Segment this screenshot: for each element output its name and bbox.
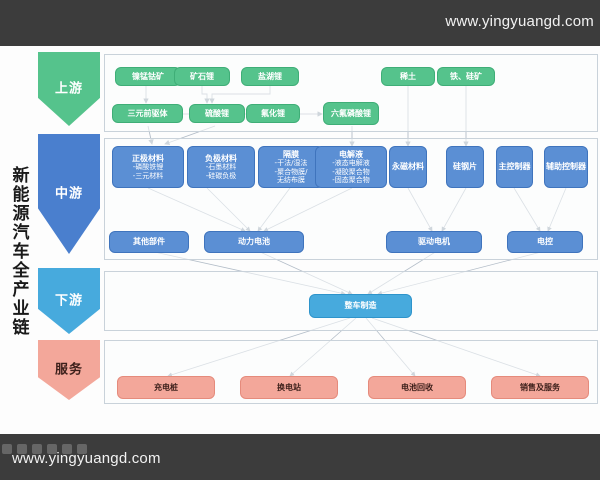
node-sub: -凝胶聚合物 <box>332 168 370 176</box>
diagram-root: www.yingyuangd.com www.yingyuangd.com <box>0 0 600 480</box>
node-service-charging-pile[interactable]: 充电桩 <box>117 376 215 399</box>
node-label: 永磁材料 <box>392 162 424 171</box>
watermark-top: www.yingyuangd.com <box>445 13 594 30</box>
editor-toolbar-icons <box>2 442 106 456</box>
node-upstream-lithium-sulfate[interactable]: 硫酸锂 <box>189 104 245 123</box>
node-label: 矿石锂 <box>190 72 214 81</box>
stage-label-downstream: 下游 <box>55 289 83 308</box>
node-midstream-permanent-magnet-material[interactable]: 永磁材料 <box>389 146 427 188</box>
node-midstream-silicon-steel-sheet[interactable]: 硅钢片 <box>446 146 484 188</box>
node-upstream-nickel-manganese-cobalt-ore[interactable]: 镍锰钴矿 <box>115 67 181 86</box>
node-sub: -硅碳负极 <box>206 172 237 180</box>
node-sub: -液态电解液 <box>332 159 370 167</box>
node-midstream-other-components[interactable]: 其他部件 <box>109 231 189 253</box>
node-midstream-power-battery[interactable]: 动力电池 <box>204 231 304 253</box>
node-sub: -干法/湿法 <box>275 159 308 167</box>
node-label: 电池回收 <box>401 383 433 392</box>
node-label: 铁、硅矿 <box>450 72 482 81</box>
node-midstream-auxiliary-controller[interactable]: 辅助控制器 <box>544 146 588 188</box>
stage-label-service: 服务 <box>55 358 83 377</box>
cursor-icon <box>62 444 72 454</box>
lock-icon <box>47 444 57 454</box>
node-midstream-anode-material[interactable]: 负极材料 -石墨材料 -硅碳负极 <box>187 146 255 188</box>
node-sub: -固态聚合物 <box>332 176 370 184</box>
node-upstream-ore-lithium[interactable]: 矿石锂 <box>174 67 230 86</box>
node-service-battery-recycling[interactable]: 电池回收 <box>368 376 466 399</box>
node-label: 六氟磷酸锂 <box>331 109 371 118</box>
node-label: 稀土 <box>400 72 416 81</box>
wave-icon <box>17 444 27 454</box>
node-upstream-lithium-fluoride[interactable]: 氟化锂 <box>246 104 300 123</box>
node-label: 隔膜 <box>283 150 299 159</box>
node-service-battery-swap-station[interactable]: 换电站 <box>240 376 338 399</box>
node-label: 电控 <box>537 237 553 246</box>
node-sub: -聚合物膜/ <box>275 168 308 176</box>
node-label: 盐湖锂 <box>258 72 282 81</box>
camera-icon <box>77 444 87 454</box>
node-label: 充电桩 <box>154 383 178 392</box>
vertical-title: 新能源汽车全产业链 <box>2 108 36 394</box>
stage-chevron-midstream: 中游 <box>38 134 100 254</box>
node-upstream-ternary-precursor[interactable]: 三元前驱体 <box>112 104 183 123</box>
node-midstream-electrolyte[interactable]: 电解液 -液态电解液 -凝胶聚合物 -固态聚合物 <box>315 146 387 188</box>
node-label: 换电站 <box>277 383 301 392</box>
node-midstream-cathode-material[interactable]: 正极材料 -磷酸铁锂 -三元材料 <box>112 146 184 188</box>
shape-icon <box>32 444 42 454</box>
top-watermark-band: www.yingyuangd.com <box>0 0 600 46</box>
node-label: 硅钢片 <box>453 162 477 171</box>
node-label: 氟化锂 <box>261 109 285 118</box>
node-label: 整车制造 <box>345 301 377 310</box>
stage-chevron-service: 服务 <box>38 340 100 400</box>
stage-chevron-upstream: 上游 <box>38 52 100 126</box>
node-label: 驱动电机 <box>418 237 450 246</box>
pencil-icon <box>2 444 12 454</box>
stage-chevron-downstream: 下游 <box>38 268 100 334</box>
node-downstream-vehicle-manufacturing[interactable]: 整车制造 <box>309 294 412 318</box>
node-sub: -石墨材料 <box>206 163 237 171</box>
node-sub: 无纺布膜 <box>277 176 305 184</box>
node-label: 销售及服务 <box>520 383 560 392</box>
node-upstream-rare-earth[interactable]: 稀土 <box>381 67 435 86</box>
node-label: 电解液 <box>339 150 363 159</box>
node-sub: -磷酸铁锂 <box>133 163 164 171</box>
node-midstream-electronic-control[interactable]: 电控 <box>507 231 583 253</box>
node-label: 辅助控制器 <box>546 162 586 171</box>
bottom-watermark-band: www.yingyuangd.com <box>0 434 600 480</box>
node-upstream-iron-silicon-ore[interactable]: 铁、硅矿 <box>437 67 495 86</box>
node-sub: -三元材料 <box>133 172 164 180</box>
node-label: 动力电池 <box>238 237 270 246</box>
node-label: 其他部件 <box>133 237 165 246</box>
node-label: 主控制器 <box>499 162 531 171</box>
node-service-sales-and-service[interactable]: 销售及服务 <box>491 376 589 399</box>
node-label: 硫酸锂 <box>205 109 229 118</box>
node-label: 镍锰钴矿 <box>132 72 164 81</box>
node-upstream-lithium-hexafluorophosphate[interactable]: 六氟磷酸锂 <box>323 102 379 125</box>
node-upstream-brine-lithium[interactable]: 盐湖锂 <box>241 67 299 86</box>
node-midstream-main-controller[interactable]: 主控制器 <box>496 146 533 188</box>
stage-label-upstream: 上游 <box>55 77 83 96</box>
node-midstream-drive-motor[interactable]: 驱动电机 <box>386 231 482 253</box>
diagram-canvas: 新能源汽车全产业链 上游 中游 下游 服务 镍锰钴矿 矿石锂 盐湖锂 稀土 <box>0 46 600 434</box>
node-label: 三元前驱体 <box>128 109 168 118</box>
stage-label-midstream: 中游 <box>55 182 83 201</box>
